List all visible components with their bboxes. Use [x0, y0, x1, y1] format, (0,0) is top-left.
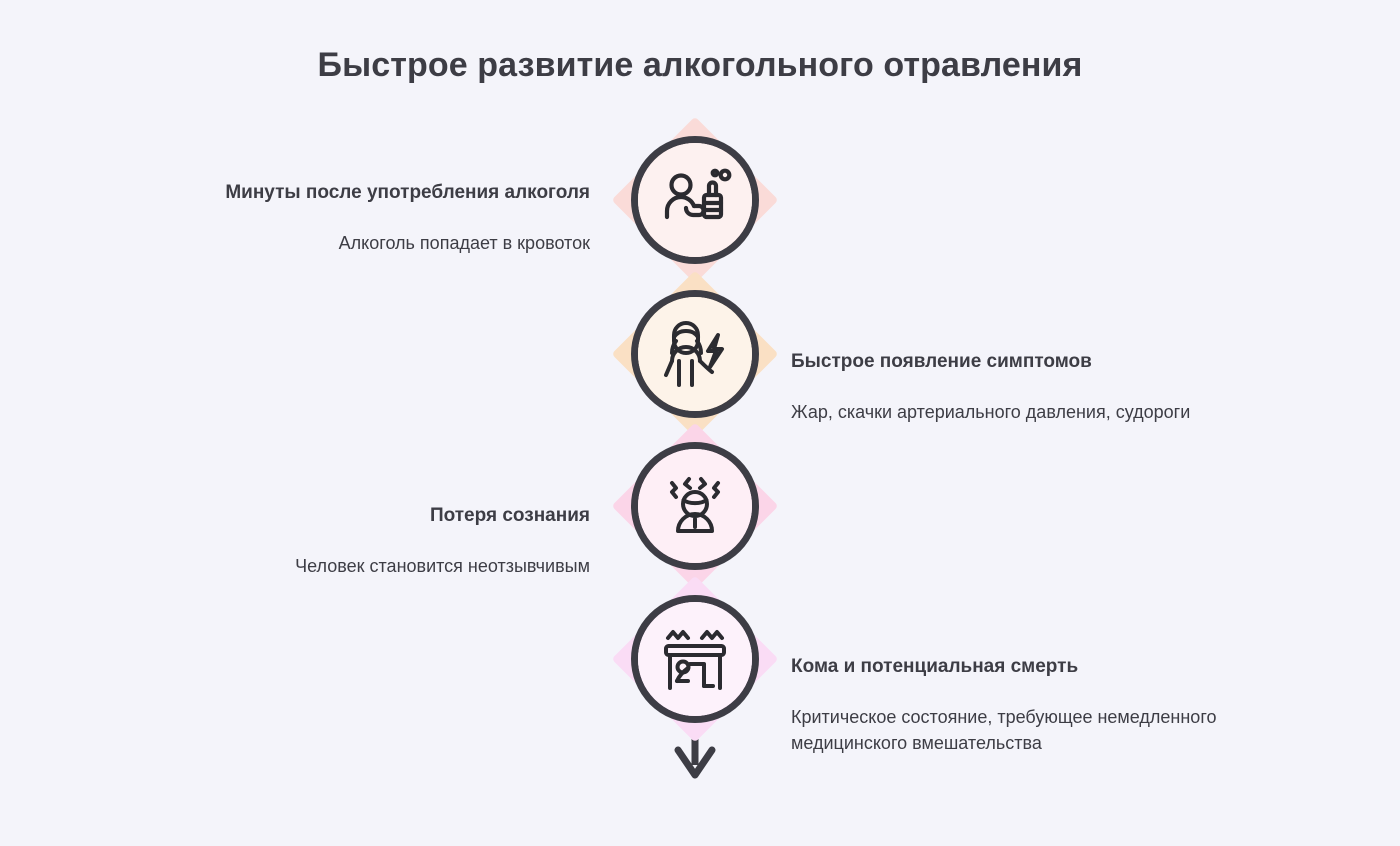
timeline-node-2[interactable] — [631, 290, 759, 418]
step-1-title: Минуты после употребления алкоголя — [180, 180, 590, 206]
node-4-circle-wrap — [631, 595, 759, 723]
step-3-description: Человек становится неотзывчивым — [180, 553, 590, 579]
person-on-hospital-bed-icon — [631, 595, 759, 723]
timeline-node-4[interactable] — [631, 595, 759, 723]
timeline-label-2: Быстрое появление симптомов Жар, скачки … — [791, 349, 1261, 425]
dizzy-unconscious-person-icon — [631, 442, 759, 570]
step-2-description: Жар, скачки артериального давления, судо… — [791, 399, 1261, 425]
infographic-page: Быстрое развитие алкогольного отравления — [0, 0, 1400, 846]
person-with-bottle-icon — [631, 136, 759, 264]
step-1-description: Алкоголь попадает в кровоток — [180, 230, 590, 256]
step-4-description: Критическое состояние, требующее немедле… — [791, 704, 1261, 756]
timeline-label-1: Минуты после употребления алкоголя Алког… — [180, 180, 590, 256]
step-3-title: Потеря сознания — [180, 503, 590, 529]
step-4-title: Кома и потенциальная смерть — [791, 654, 1261, 680]
timeline-node-3[interactable] — [631, 442, 759, 570]
node-1-circle-wrap — [631, 136, 759, 264]
step-2-title: Быстрое появление симптомов — [791, 349, 1261, 375]
node-3-circle-wrap — [631, 442, 759, 570]
timeline-label-3: Потеря сознания Человек становится неотз… — [180, 503, 590, 579]
timeline-label-4: Кома и потенциальная смерть Критическое … — [791, 654, 1261, 756]
timeline-node-1[interactable] — [631, 136, 759, 264]
person-with-lightning-icon — [631, 290, 759, 418]
timeline: Минуты после употребления алкоголя Алког… — [0, 0, 1400, 846]
node-2-circle-wrap — [631, 290, 759, 418]
